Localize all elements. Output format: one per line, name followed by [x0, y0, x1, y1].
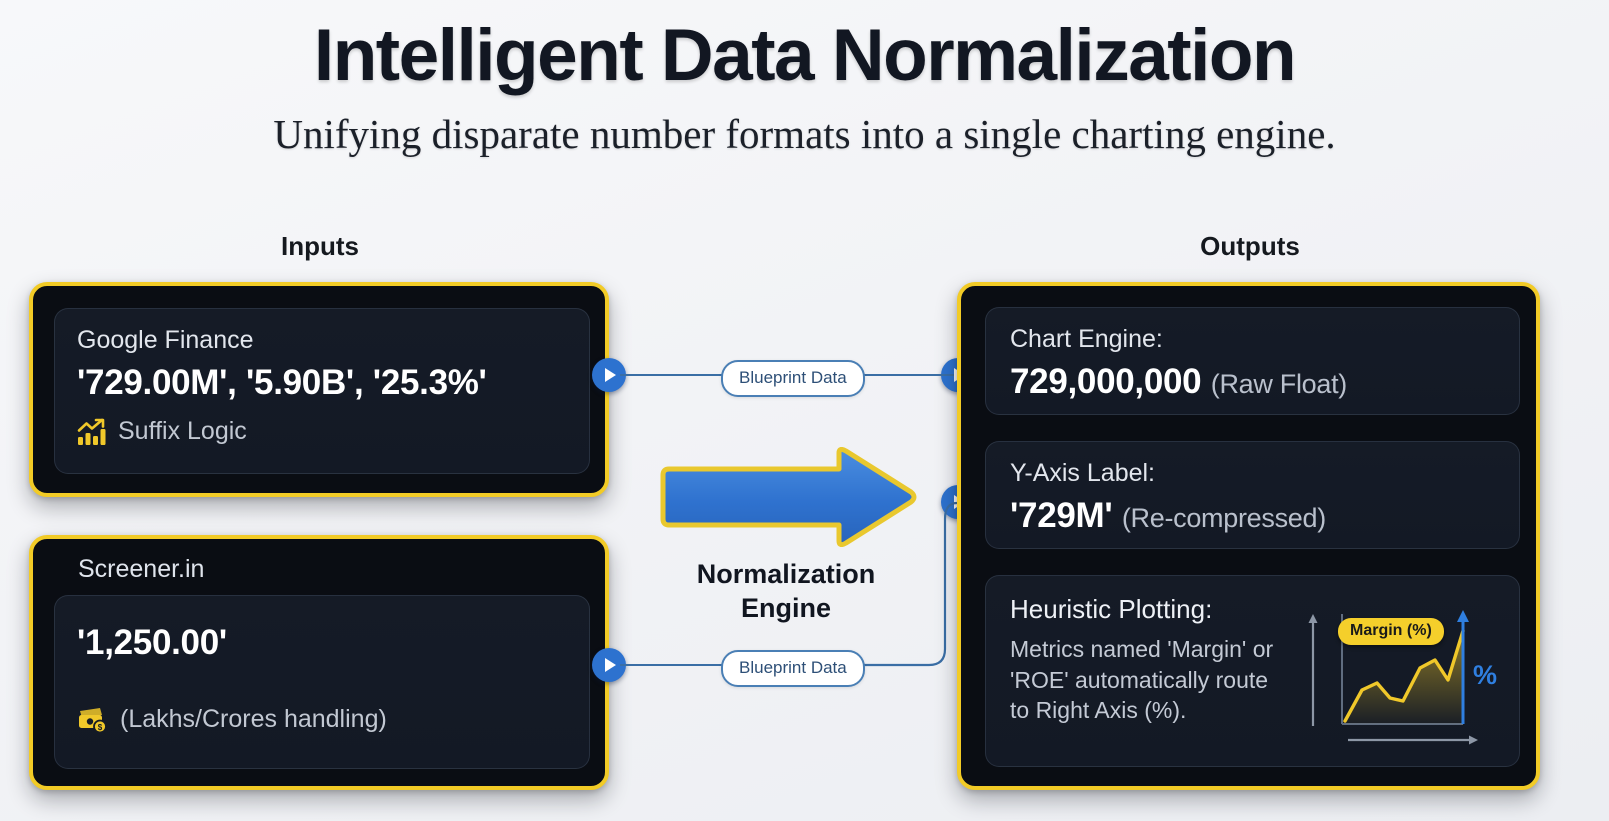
heuristic-body: Metrics named 'Margin' or 'ROE' automati…	[1010, 634, 1282, 725]
chart-increasing-icon	[77, 418, 107, 446]
page-subtitle: Unifying disparate number formats into a…	[0, 110, 1609, 158]
input-value-screener: '1,250.00'	[77, 623, 567, 663]
output-value-number-yaxis-label: '729M'	[1010, 496, 1112, 535]
output-title-yaxis-label: Y-Axis Label:	[1010, 458, 1495, 489]
output-value-chart-engine: 729,000,000 (Raw Float)	[1010, 362, 1495, 402]
heuristic-text-block: Heuristic Plotting: Metrics named 'Margi…	[1010, 594, 1282, 725]
output-value-suffix-yaxis-label: (Re-compressed)	[1122, 503, 1326, 533]
input-panel-google-finance: Google Finance '729.00M', '5.90B', '25.3…	[54, 308, 590, 474]
normalization-engine-label: Normalization Engine	[652, 558, 920, 626]
normalization-engine-label-line2: Engine	[652, 592, 920, 626]
input-value-google-finance: '729.00M', '5.90B', '25.3%'	[77, 363, 567, 403]
input-meta-screener: $ (Lakhs/Crores handling)	[77, 705, 567, 734]
output-value-yaxis-label: '729M' (Re-compressed)	[1010, 496, 1495, 536]
output-title-chart-engine: Chart Engine:	[1010, 324, 1495, 355]
svg-text:$: $	[98, 723, 103, 732]
input-meta-text-google-finance: Suffix Logic	[118, 417, 247, 446]
input-title-screener: Screener.in	[78, 555, 204, 584]
output-panel-heuristic-plotting: Heuristic Plotting: Metrics named 'Margi…	[985, 575, 1520, 767]
mini-chart-margin-badge: Margin (%)	[1338, 618, 1444, 645]
output-card[interactable]: Chart Engine: 729,000,000 (Raw Float) Y-…	[957, 282, 1540, 790]
output-value-suffix-chart-engine: (Raw Float)	[1211, 369, 1347, 399]
input-title-google-finance: Google Finance	[77, 325, 567, 356]
connector-wire-top-left	[620, 374, 723, 376]
output-panel-chart-engine: Chart Engine: 729,000,000 (Raw Float)	[985, 307, 1520, 415]
heuristic-title: Heuristic Plotting:	[1010, 594, 1282, 625]
normalization-engine-label-line1: Normalization	[652, 558, 920, 592]
output-panel-yaxis-label: Y-Axis Label: '729M' (Re-compressed)	[985, 441, 1520, 549]
input-meta-text-screener: (Lakhs/Crores handling)	[120, 705, 387, 734]
mini-chart-left-axis-arrow	[1309, 614, 1318, 726]
inputs-column-heading: Inputs	[200, 231, 440, 262]
normalization-engine-arrow-icon	[655, 447, 920, 547]
money-banknote-icon: $	[77, 706, 109, 734]
input-card-screener[interactable]: Screener.in '1,250.00' $ (Lakhs/Crores h…	[29, 535, 609, 790]
connector-pill-top[interactable]: Blueprint Data	[721, 360, 865, 397]
mini-chart-x-axis-arrow	[1348, 736, 1478, 745]
outputs-column-heading: Outputs	[1130, 231, 1370, 262]
mini-chart-percent-label: %	[1473, 660, 1497, 691]
input-card-google-finance[interactable]: Google Finance '729.00M', '5.90B', '25.3…	[29, 282, 609, 497]
connector-pill-bottom[interactable]: Blueprint Data	[721, 650, 865, 687]
page-title: Intelligent Data Normalization	[0, 14, 1609, 97]
connector-wire-bottom-left	[620, 664, 723, 666]
output-value-number-chart-engine: 729,000,000	[1010, 362, 1201, 401]
input-meta-google-finance: Suffix Logic	[77, 417, 567, 446]
input-panel-screener: '1,250.00' $ (Lakhs/Crores handling)	[54, 595, 590, 769]
heuristic-mini-chart: Margin (%) %	[1300, 598, 1495, 748]
